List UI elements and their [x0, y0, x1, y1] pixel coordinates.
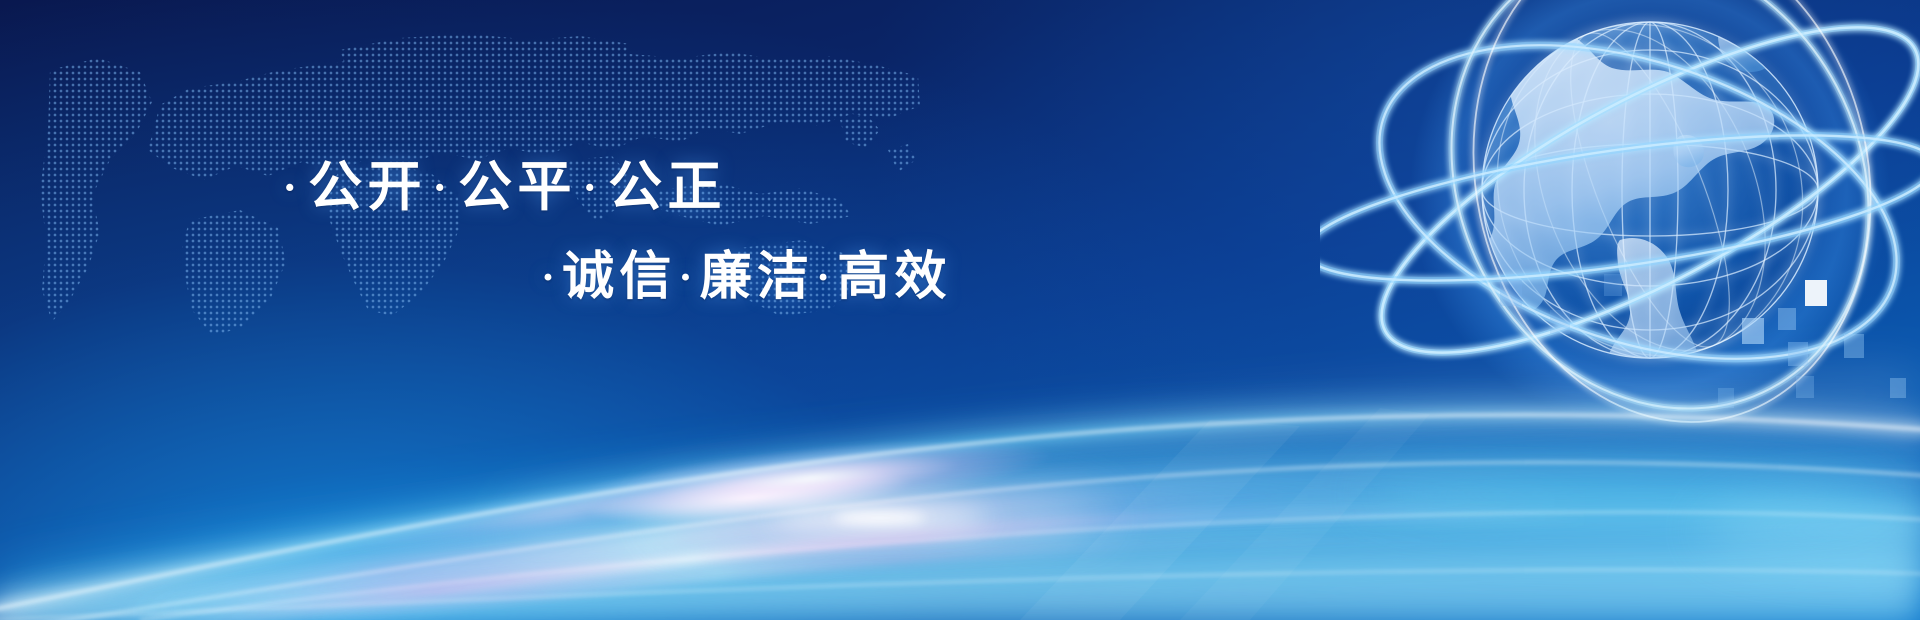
square	[1500, 280, 1522, 306]
slogan-word-6: 高效	[836, 249, 952, 306]
slogan-line-1: ·公开·公平·公正	[278, 142, 728, 221]
bullet-separator: ·	[278, 163, 307, 212]
square	[1550, 310, 1570, 334]
translucent-squares-cluster-inner	[1480, 270, 1660, 390]
slogan-word-1: 公开	[307, 157, 428, 217]
bullet-separator: ·	[678, 254, 699, 301]
square	[1844, 334, 1864, 358]
bullet-separator: ·	[815, 254, 836, 301]
square	[1604, 274, 1622, 296]
square	[1742, 318, 1764, 344]
square	[1718, 388, 1734, 408]
translucent-squares-cluster	[1700, 260, 1920, 440]
slogan-line-2: ·诚信·廉洁·高效	[540, 234, 953, 309]
bullet-separator: ·	[578, 163, 607, 212]
slogan-word-3: 公正	[607, 157, 728, 217]
slogan-word-2: 公平	[457, 157, 578, 217]
bullet-separator: ·	[540, 254, 561, 301]
slogan-word-4: 诚信	[561, 249, 677, 306]
square	[1890, 378, 1906, 398]
pink-glow-burst	[511, 314, 1290, 616]
dotted-world-map	[40, 10, 940, 340]
bullet-separator: ·	[428, 163, 457, 212]
slogan-block: ·公开·公平·公正 ·诚信·廉洁·高效	[0, 0, 1120, 360]
wireframe-globe	[1320, 0, 1920, 500]
slogan-word-5: 廉洁	[699, 249, 815, 306]
square	[1805, 280, 1827, 306]
square	[1796, 376, 1814, 398]
square	[1788, 342, 1808, 366]
promo-banner: ·公开·公平·公正 ·诚信·廉洁·高效	[0, 0, 1920, 620]
square	[1778, 308, 1796, 330]
